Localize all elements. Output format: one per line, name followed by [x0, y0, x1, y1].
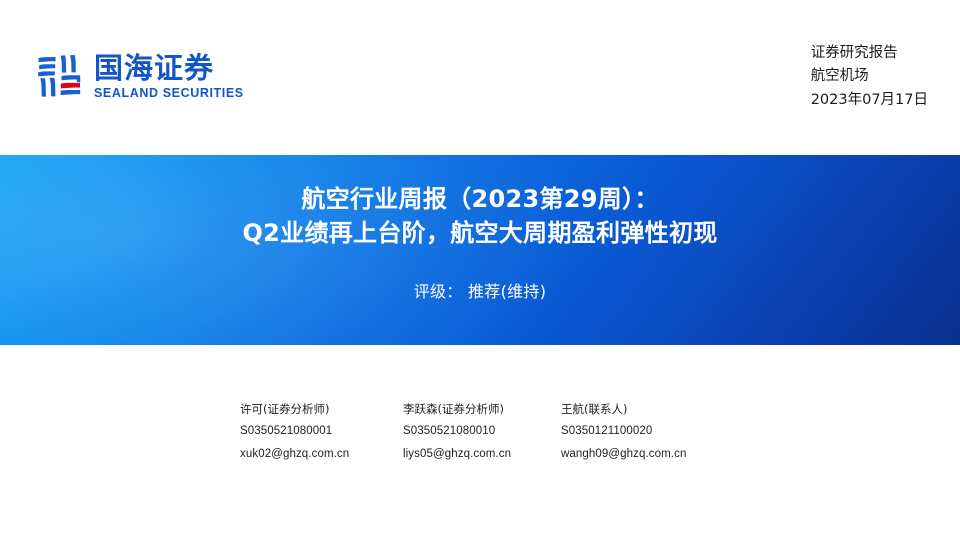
analyst-name: 李跃森(证券分析师) — [403, 398, 561, 420]
analyst-email[interactable]: wangh09@ghzq.com.cn — [561, 443, 724, 465]
page-title-line-1: 航空行业周报（2023第29周）： — [301, 185, 658, 213]
rating-label: 评级： 推荐(维持) — [414, 278, 547, 302]
page-title: 航空行业周报（2023第29周）： Q2业绩再上台阶，航空大周期盈利弹性初现 — [242, 182, 717, 250]
title-banner: 航空行业周报（2023第29周）： Q2业绩再上台阶，航空大周期盈利弹性初现 评… — [0, 155, 960, 345]
page-header: 国海证券 SEALAND SECURITIES 证券研究报告 航空机场 2023… — [0, 0, 960, 155]
analyst-email[interactable]: xuk02@ghzq.com.cn — [240, 443, 403, 465]
report-type-label: 证券研究报告 — [811, 42, 928, 65]
analyst-email[interactable]: liys05@ghzq.com.cn — [403, 443, 561, 465]
logo-company-name-en: SEALAND SECURITIES — [94, 86, 244, 100]
page-title-line-2: Q2业绩再上台阶，航空大周期盈利弹性初现 — [242, 216, 717, 250]
analyst-license-code: S0350521080001 — [240, 420, 403, 442]
analyst-contact-block: 许可(证券分析师) S0350521080001 xuk02@ghzq.com.… — [0, 398, 960, 465]
logo-company-name-cn: 国海证券 — [94, 53, 244, 83]
analyst-name: 王航(联系人) — [561, 398, 724, 420]
analyst-license-code: S0350121100020 — [561, 420, 724, 442]
analyst-column: 王航(联系人) S0350121100020 wangh09@ghzq.com.… — [561, 398, 724, 465]
analyst-column: 许可(证券分析师) S0350521080001 xuk02@ghzq.com.… — [240, 398, 403, 465]
company-logo: 国海证券 SEALAND SECURITIES — [36, 52, 244, 100]
analyst-license-code: S0350521080010 — [403, 420, 561, 442]
report-date: 2023年07月17日 — [811, 89, 928, 112]
header-meta-block: 证券研究报告 航空机场 2023年07月17日 — [811, 42, 928, 112]
sealand-securities-logo-mark — [36, 52, 84, 100]
analyst-name: 许可(证券分析师) — [240, 398, 403, 420]
sector-label: 航空机场 — [811, 65, 928, 88]
report-cover-page: 国海证券 SEALAND SECURITIES 证券研究报告 航空机场 2023… — [0, 0, 960, 540]
analyst-column: 李跃森(证券分析师) S0350521080010 liys05@ghzq.co… — [403, 398, 561, 465]
logo-wordmark: 国海证券 SEALAND SECURITIES — [94, 52, 244, 100]
